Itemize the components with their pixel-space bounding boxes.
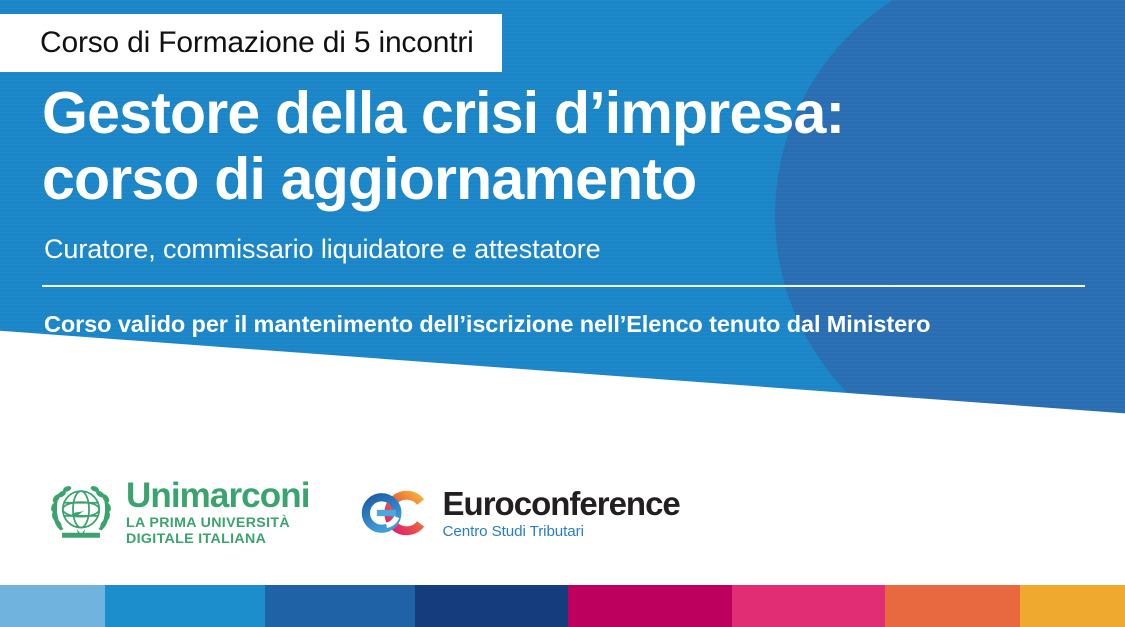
color-bar-segment-pink: [732, 585, 885, 627]
logo-row: Unimarconi LA PRIMA UNIVERSITÀ DIGITALE …: [44, 478, 680, 548]
page-title: Gestore della crisi d’impresa: corso di …: [42, 80, 1087, 212]
color-bar-segment-yellow: [1020, 585, 1125, 627]
unimarconi-name: Unimarconi: [126, 479, 310, 513]
color-bar-segment-light-blue: [0, 585, 105, 627]
unimarconi-wordmark: Unimarconi LA PRIMA UNIVERSITÀ DIGITALE …: [126, 479, 310, 548]
course-kicker-badge: Corso di Formazione di 5 incontri: [0, 14, 502, 72]
euroconference-wordmark: Euroconference Centro Studi Tributari: [443, 487, 680, 540]
euroconference-tagline: Centro Studi Tributari: [443, 523, 680, 540]
euroconference-name: Euroconference: [443, 487, 680, 520]
unimarconi-logo: Unimarconi LA PRIMA UNIVERSITÀ DIGITALE …: [44, 478, 310, 548]
unimarconi-globe-laurel-emblem: [44, 478, 118, 548]
headline-line-1: Gestore della crisi d’impresa:: [42, 80, 844, 146]
color-bar-segment-navy: [415, 585, 568, 627]
course-kicker-label: Corso di Formazione di 5 incontri: [40, 26, 474, 60]
divider: [42, 285, 1085, 287]
course-promo-banner: Corso di Formazione di 5 incontri Gestor…: [0, 0, 1125, 627]
banner-content: Gestore della crisi d’impresa: corso di …: [42, 80, 1087, 372]
unimarconi-tagline-1: LA PRIMA UNIVERSITÀ: [126, 515, 310, 531]
headline-line-2: corso di aggiornamento: [42, 146, 1087, 212]
euroconference-logo: Euroconference Centro Studi Tributari: [360, 487, 680, 540]
validity-note: Corso valido per il mantenimento dell’is…: [44, 309, 974, 372]
color-bar-segment-blue: [105, 585, 265, 627]
color-bar-segment-orange: [885, 585, 1020, 627]
color-bar-segment-magenta: [568, 585, 732, 627]
color-bar-segment-medium-blue: [265, 585, 415, 627]
subtitle: Curatore, commissario liquidatore e atte…: [44, 234, 1087, 265]
bottom-color-bar: [0, 585, 1125, 627]
unimarconi-tagline-2: DIGITALE ITALIANA: [126, 531, 310, 547]
ec-monogram-icon: [360, 487, 432, 539]
